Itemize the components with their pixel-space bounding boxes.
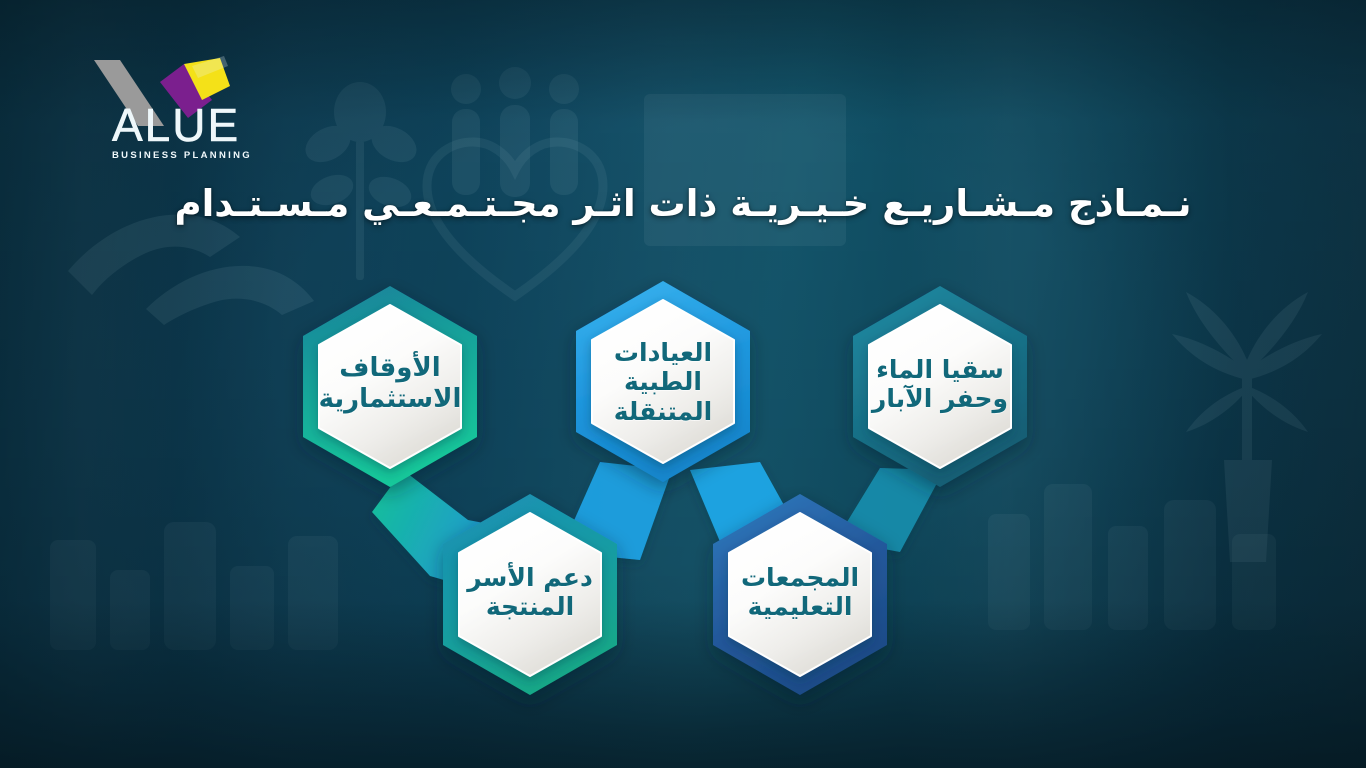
slide-canvas: ALUE BUSINESS PLANNING نـمـاذج مـشـاريـع… bbox=[0, 0, 1366, 768]
hexagon-diagram-svg bbox=[0, 0, 1366, 768]
hexagon-diagram: الأوقاف الاستثمارية العيادات الطبية المت… bbox=[0, 0, 1366, 768]
